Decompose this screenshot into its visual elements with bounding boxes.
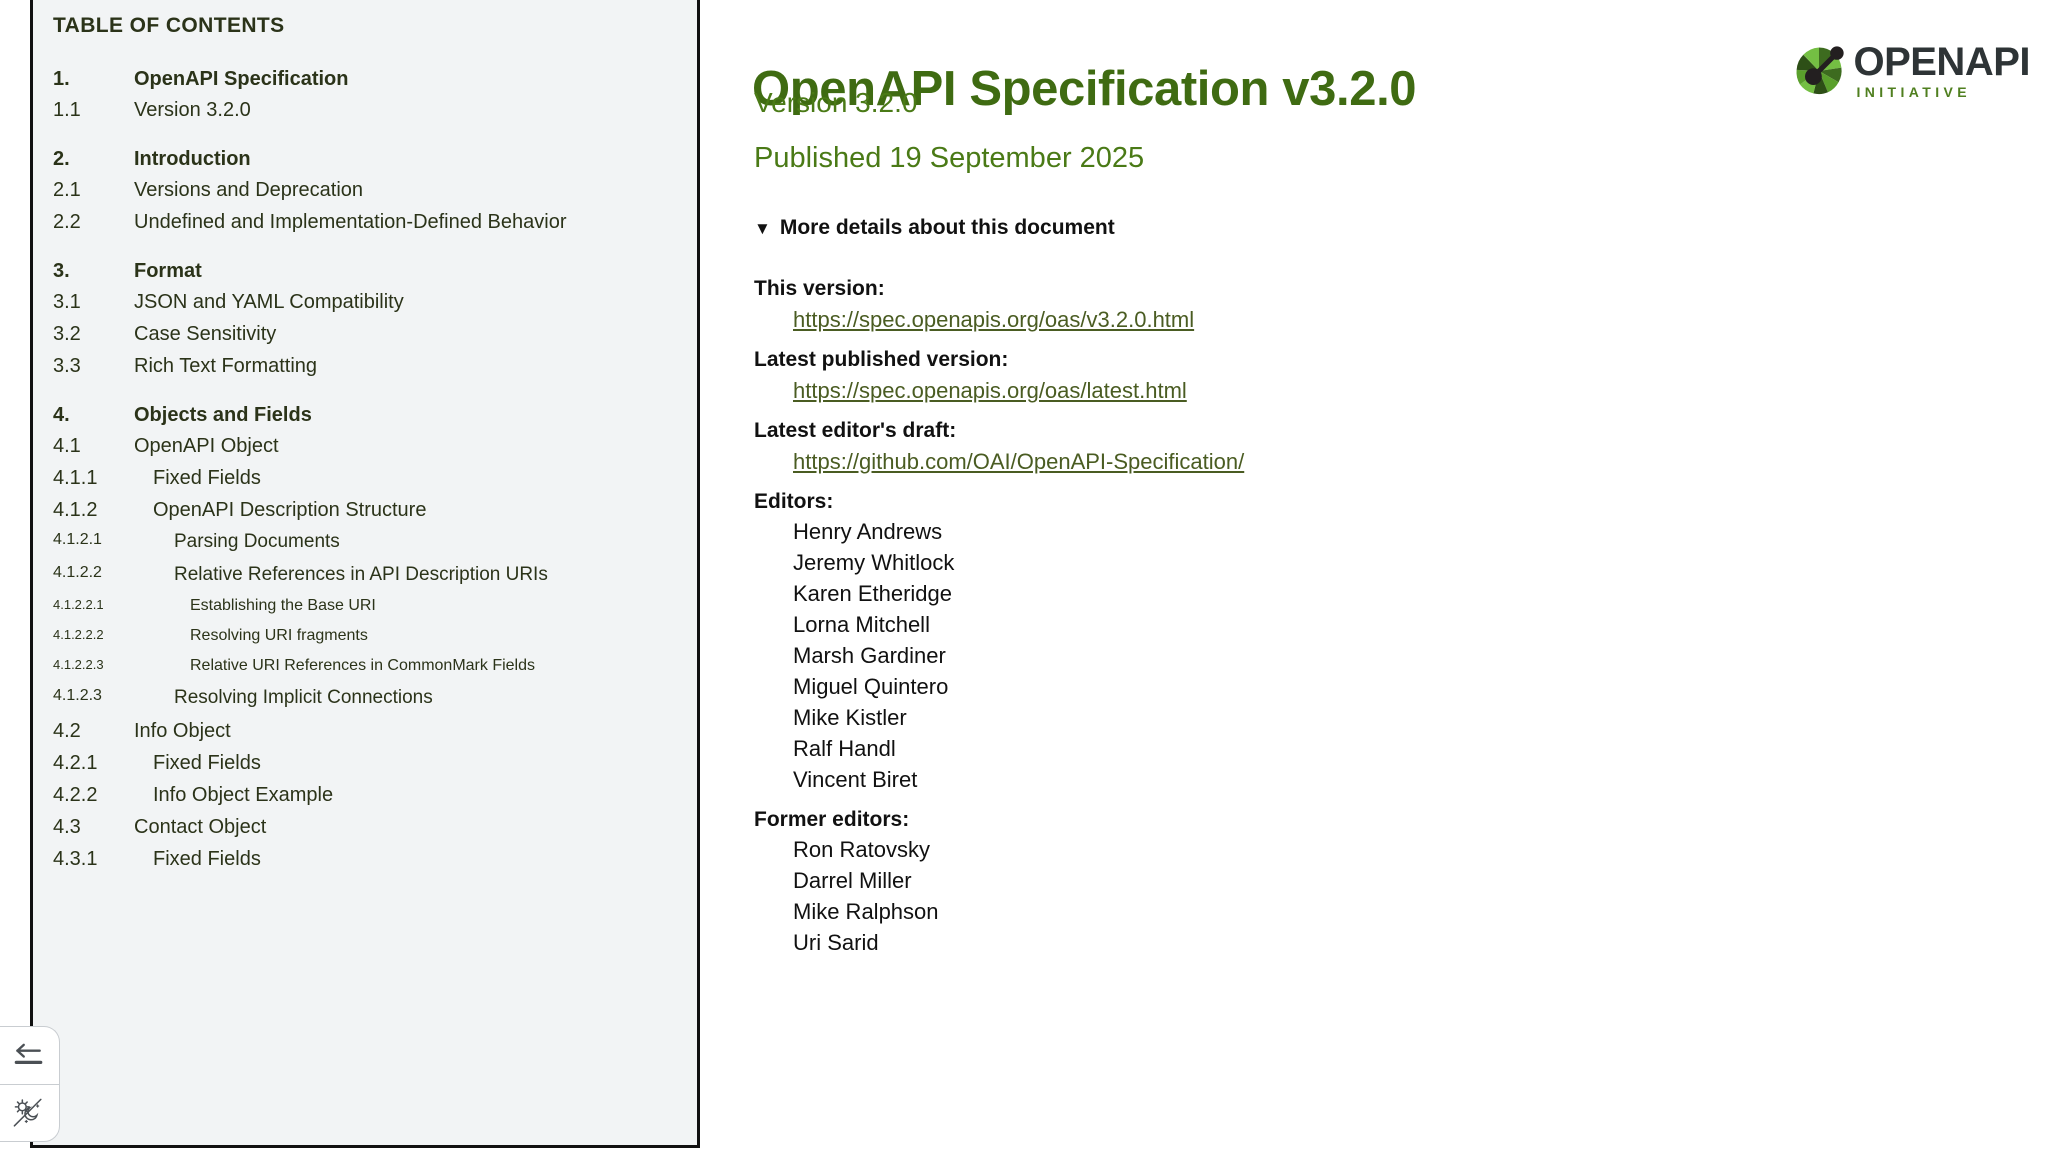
document-main-content: OPENAPI INITIATIVE OpenAPI Specification… xyxy=(752,0,2048,1152)
toc-entry-number: 4.1.2.2.3 xyxy=(53,657,134,672)
metadata-group-label: Latest published version: xyxy=(754,348,1854,372)
editor-name: Mike Ralphson xyxy=(793,899,1854,925)
toc-entry[interactable]: 4.3Contact Object xyxy=(53,816,697,839)
toc-entry[interactable]: 1.OpenAPI Specification xyxy=(53,68,697,91)
toc-entry-label: Version 3.2.0 xyxy=(134,99,697,122)
toc-entry-number: 4.1.2.3 xyxy=(53,687,134,705)
toc-entry[interactable]: 4.3.1Fixed Fields xyxy=(53,848,697,871)
sidebar-floating-controls xyxy=(0,1026,60,1142)
logo-wordmark: OPENAPI xyxy=(1853,42,2030,82)
toc-entry-label: JSON and YAML Compatibility xyxy=(134,291,697,314)
toc-entry-number: 4.1.2.1 xyxy=(53,531,134,549)
metadata-group-label: Editors: xyxy=(754,490,1854,514)
toc-entry-label: Introduction xyxy=(134,148,697,171)
theme-toggle-button[interactable] xyxy=(0,1084,60,1142)
toc-entry-label: Fixed Fields xyxy=(153,752,697,775)
metadata-group-label: Former editors: xyxy=(754,808,1854,832)
toc-entry-label: Parsing Documents xyxy=(174,531,697,553)
openapi-logo-mark-icon xyxy=(1791,43,1847,99)
toc-entry-label: OpenAPI Object xyxy=(134,435,697,458)
toc-entry[interactable]: 4.1.1Fixed Fields xyxy=(53,467,697,490)
toc-entry[interactable]: 4.1.2.2.2Resolving URI fragments xyxy=(53,627,697,645)
toc-entry-label: Relative URI References in CommonMark Fi… xyxy=(190,657,697,675)
toc-entry-number: 4.2.2 xyxy=(53,784,134,807)
metadata-link[interactable]: https://spec.openapis.org/oas/latest.htm… xyxy=(793,378,1854,404)
more-details-label: More details about this document xyxy=(780,216,1115,240)
toc-entry-number: 4.1.2.2.1 xyxy=(53,597,134,612)
editor-name: Darrel Miller xyxy=(793,868,1854,894)
toc-entry-number: 3.3 xyxy=(53,355,134,378)
toc-entry-number: 4.1.2 xyxy=(53,499,134,522)
editor-name: Marsh Gardiner xyxy=(793,643,1854,669)
toc-entry-label: Info Object xyxy=(134,720,697,743)
editor-name: Vincent Biret xyxy=(793,767,1854,793)
toc-entry-label: Fixed Fields xyxy=(153,848,697,871)
toc-entry[interactable]: 4.2.2Info Object Example xyxy=(53,784,697,807)
metadata-link[interactable]: https://github.com/OAI/OpenAPI-Specifica… xyxy=(793,449,1854,475)
toc-entry-number: 2. xyxy=(53,148,134,171)
toc-entry-number: 4.1.2.2.2 xyxy=(53,627,134,642)
toc-entry[interactable]: 4.2.1Fixed Fields xyxy=(53,752,697,775)
toc-entry-number: 1.1 xyxy=(53,99,134,122)
toc-entry-label: Format xyxy=(134,260,697,283)
editor-name: Mike Kistler xyxy=(793,705,1854,731)
more-details-disclosure[interactable]: ▼ More details about this document xyxy=(754,216,1115,240)
toc-entry-label: Info Object Example xyxy=(153,784,697,807)
toc-entry-number: 2.1 xyxy=(53,179,134,202)
collapse-sidebar-button[interactable] xyxy=(0,1026,60,1084)
toc-entry[interactable]: 3.1JSON and YAML Compatibility xyxy=(53,291,697,314)
logo-text: OPENAPI INITIATIVE xyxy=(1853,42,2030,99)
toc-entry-number: 3.2 xyxy=(53,323,134,346)
metadata-group: Latest editor's draft:https://github.com… xyxy=(754,419,1854,475)
toc-entry-number: 4.2.1 xyxy=(53,752,134,775)
toc-entry-number: 2.2 xyxy=(53,211,134,234)
toc-entry[interactable]: 2.2Undefined and Implementation-Defined … xyxy=(53,211,697,234)
editor-name: Lorna Mitchell xyxy=(793,612,1854,638)
toc-entry-label: Relative References in API Description U… xyxy=(174,564,697,586)
toc-entry[interactable]: 4.1.2.2Relative References in API Descri… xyxy=(53,564,697,586)
toc-entry[interactable]: 2.Introduction xyxy=(53,148,697,171)
toc-entry-label: OpenAPI Specification xyxy=(134,68,697,91)
toc-entry-label: Contact Object xyxy=(134,816,697,839)
toc-heading: TABLE OF CONTENTS xyxy=(53,14,697,38)
toc-entry-label: Fixed Fields xyxy=(153,467,697,490)
toc-entry-label: Resolving Implicit Connections xyxy=(174,687,697,709)
metadata-group-label: Latest editor's draft: xyxy=(754,419,1854,443)
metadata-link[interactable]: https://spec.openapis.org/oas/v3.2.0.htm… xyxy=(793,307,1854,333)
sun-moon-theme-toggle-icon xyxy=(11,1096,45,1130)
toc-entry[interactable]: 4.1.2.2.1Establishing the Base URI xyxy=(53,597,697,615)
toc-entry-number: 4.1 xyxy=(53,435,134,458)
editor-name: Ralf Handl xyxy=(793,736,1854,762)
metadata-group: Former editors:Ron RatovskyDarrel Miller… xyxy=(754,808,1854,956)
toc-entry[interactable]: 3.3Rich Text Formatting xyxy=(53,355,697,378)
toc-entry-label: Case Sensitivity xyxy=(134,323,697,346)
document-metadata-list: This version:https://spec.openapis.org/o… xyxy=(754,262,1854,956)
toc-entry-number: 4.1.1 xyxy=(53,467,134,490)
table-of-contents-panel[interactable]: TABLE OF CONTENTS 1.OpenAPI Specificatio… xyxy=(30,0,700,1148)
toc-entry-number: 4.3 xyxy=(53,816,134,839)
toc-entry-number: 3.1 xyxy=(53,291,134,314)
toc-entry-number: 4.2 xyxy=(53,720,134,743)
toc-scroll-content: TABLE OF CONTENTS 1.OpenAPI Specificatio… xyxy=(33,0,697,880)
toc-entry[interactable]: 3.2Case Sensitivity xyxy=(53,323,697,346)
toc-entry[interactable]: 4.1.2OpenAPI Description Structure xyxy=(53,499,697,522)
toc-entry-number: 4.3.1 xyxy=(53,848,134,871)
toc-entry-label: OpenAPI Description Structure xyxy=(153,499,697,522)
toc-entry[interactable]: 3.Format xyxy=(53,260,697,283)
toc-entry[interactable]: 4.1.2.3Resolving Implicit Connections xyxy=(53,687,697,709)
toc-entry[interactable]: 4.2Info Object xyxy=(53,720,697,743)
editor-name: Jeremy Whitlock xyxy=(793,550,1854,576)
editor-name: Ron Ratovsky xyxy=(793,837,1854,863)
toc-entry[interactable]: 2.1Versions and Deprecation xyxy=(53,179,697,202)
editor-name: Miguel Quintero xyxy=(793,674,1854,700)
editor-name: Henry Andrews xyxy=(793,519,1854,545)
toc-entry-label: Establishing the Base URI xyxy=(190,597,697,615)
document-version: Version 3.2.0 xyxy=(754,87,917,119)
toc-entry-number: 3. xyxy=(53,260,134,283)
toc-entry[interactable]: 4.1.2.1Parsing Documents xyxy=(53,531,697,553)
toc-entry-label: Undefined and Implementation-Defined Beh… xyxy=(134,211,697,234)
toc-entry-number: 4.1.2.2 xyxy=(53,564,134,582)
openapi-initiative-logo[interactable]: OPENAPI INITIATIVE xyxy=(1791,42,2030,99)
logo-subtitle: INITIATIVE xyxy=(1856,85,1971,99)
metadata-group-label: This version: xyxy=(754,277,1854,301)
document-published-date: Published 19 September 2025 xyxy=(754,142,1144,175)
collapse-sidebar-arrow-icon xyxy=(11,1039,45,1073)
toc-list: 1.OpenAPI Specification1.1Version 3.2.02… xyxy=(33,68,697,871)
toc-entry-number: 4. xyxy=(53,404,134,427)
toc-entry[interactable]: 4.Objects and Fields xyxy=(53,404,697,427)
toc-entry-label: Objects and Fields xyxy=(134,404,697,427)
toc-entry[interactable]: 4.1.2.2.3Relative URI References in Comm… xyxy=(53,657,697,675)
metadata-group: Latest published version:https://spec.op… xyxy=(754,348,1854,404)
toc-entry-label: Versions and Deprecation xyxy=(134,179,697,202)
editor-name: Uri Sarid xyxy=(793,930,1854,956)
document-page: TABLE OF CONTENTS 1.OpenAPI Specificatio… xyxy=(0,0,2048,1152)
metadata-group: This version:https://spec.openapis.org/o… xyxy=(754,277,1854,333)
editor-name: Karen Etheridge xyxy=(793,581,1854,607)
toc-entry-label: Resolving URI fragments xyxy=(190,627,697,645)
toc-entry[interactable]: 4.1OpenAPI Object xyxy=(53,435,697,458)
toc-entry-label: Rich Text Formatting xyxy=(134,355,697,378)
metadata-group: Editors:Henry AndrewsJeremy WhitlockKare… xyxy=(754,490,1854,793)
chevron-down-icon: ▼ xyxy=(754,220,771,237)
toc-entry[interactable]: 1.1Version 3.2.0 xyxy=(53,99,697,122)
toc-entry-number: 1. xyxy=(53,68,134,91)
